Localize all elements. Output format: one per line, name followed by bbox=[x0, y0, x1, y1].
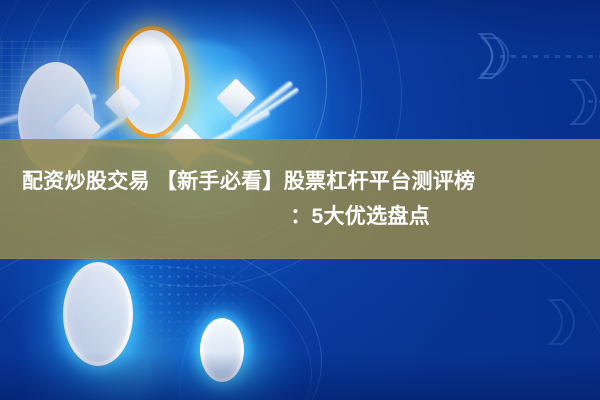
banner-title: 配资炒股交易 【新手必看】股票杠杆平台测评榜 ：5大优选盘点 bbox=[0, 139, 600, 259]
banner-title-line-1: 配资炒股交易 【新手必看】股票杠杆平台测评榜 bbox=[0, 164, 582, 199]
banner-title-line-2: ：5大优选盘点 bbox=[0, 199, 582, 234]
banner-image: 配资炒股交易 【新手必看】股票杠杆平台测评榜 ：5大优选盘点 bbox=[0, 0, 600, 400]
